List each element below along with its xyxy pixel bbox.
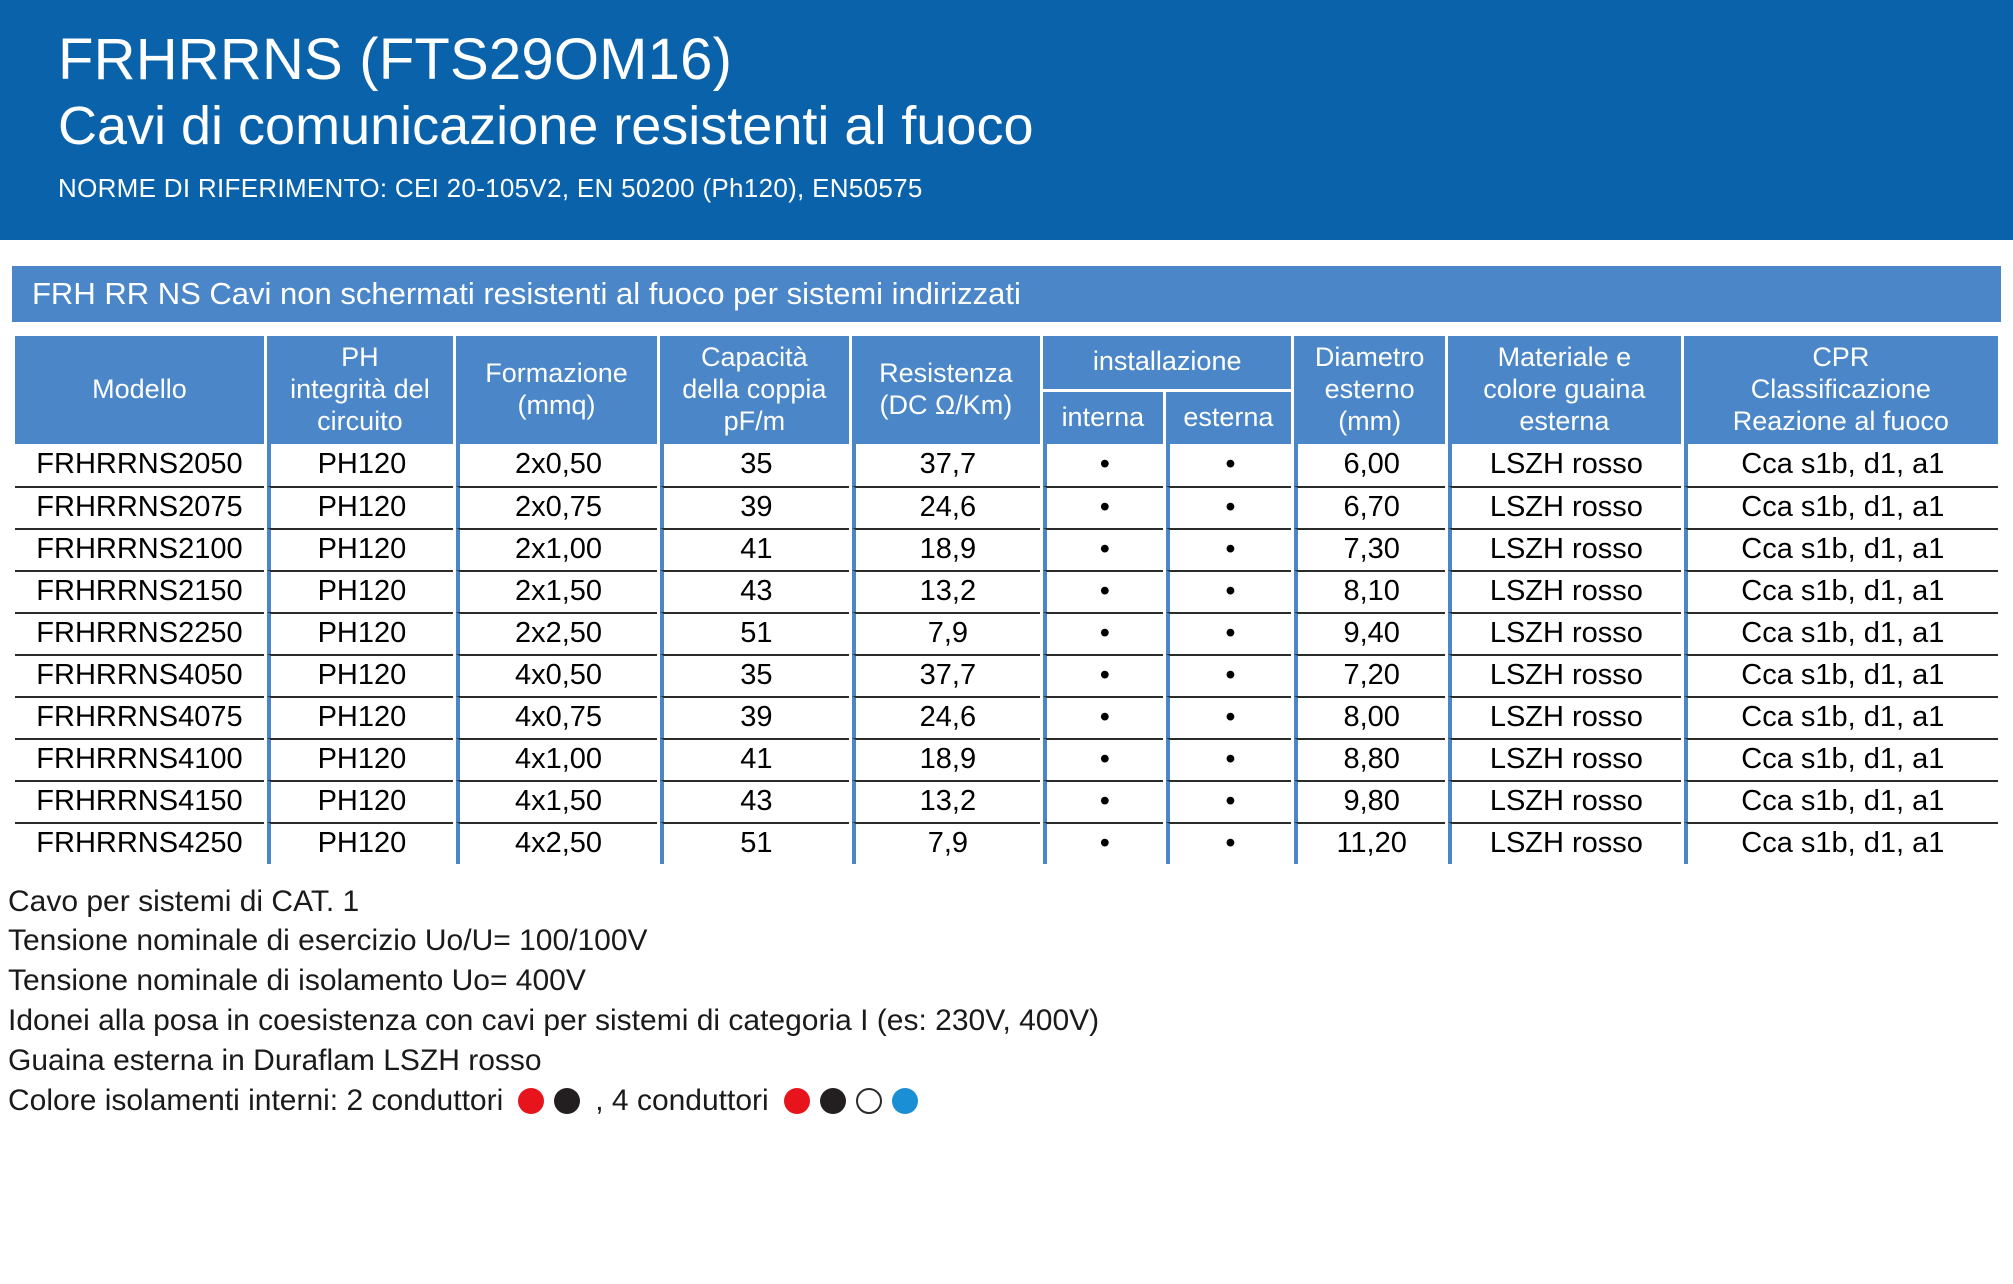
cell-modello: FRHRRNS4100	[15, 738, 264, 780]
spec-table-head: Modello PH integrità del circuito Formaz…	[15, 336, 1998, 444]
cell-resistenza: 37,7	[852, 654, 1041, 696]
note-line-5: Guaina esterna in Duraflam LSZH rosso	[8, 1041, 2013, 1081]
cell-installazione-interna: •	[1043, 486, 1162, 528]
cell-materiale: LSZH rosso	[1448, 570, 1681, 612]
cell-resistenza: 37,7	[852, 444, 1041, 486]
cell-materiale: LSZH rosso	[1448, 528, 1681, 570]
cpr-line-3: Reazione al fuoco	[1688, 406, 1994, 438]
cell-diametro: 8,10	[1294, 570, 1445, 612]
diametro-line-1: Diametro	[1298, 342, 1441, 374]
cell-ph: PH120	[267, 822, 453, 864]
cell-diametro: 6,00	[1294, 444, 1445, 486]
table-row: FRHRRNS4100PH1204x1,004118,9••8,80LSZH r…	[15, 738, 1998, 780]
cell-installazione-esterna: •	[1166, 822, 1292, 864]
cell-cpr: Cca s1b, d1, a1	[1684, 612, 1998, 654]
note-line-3: Tensione nominale di isolamento Uo= 400V	[8, 961, 2013, 1001]
table-row: FRHRRNS4150PH1204x1,504313,2••9,80LSZH r…	[15, 780, 1998, 822]
cell-cpr: Cca s1b, d1, a1	[1684, 528, 1998, 570]
note-line-6: Colore isolamenti interni: 2 conduttori …	[8, 1081, 2013, 1121]
cpr-line-1: CPR	[1688, 342, 1994, 374]
cell-formazione: 2x1,50	[456, 570, 657, 612]
cell-installazione-interna: •	[1043, 612, 1162, 654]
cell-ph: PH120	[267, 444, 453, 486]
cell-capacita: 39	[660, 696, 849, 738]
cell-resistenza: 18,9	[852, 738, 1041, 780]
cell-diametro: 7,30	[1294, 528, 1445, 570]
table-row: FRHRRNS2250PH1202x2,50517,9••9,40LSZH ro…	[15, 612, 1998, 654]
materiale-line-3: esterna	[1452, 406, 1677, 438]
section-band-wrapper: FRH RR NS Cavi non schermati resistenti …	[0, 240, 2013, 322]
cell-installazione-esterna: •	[1166, 486, 1292, 528]
cell-modello: FRHRRNS2050	[15, 444, 264, 486]
cell-capacita: 39	[660, 486, 849, 528]
table-row: FRHRRNS4075PH1204x0,753924,6••8,00LSZH r…	[15, 696, 1998, 738]
cell-materiale: LSZH rosso	[1448, 696, 1681, 738]
cell-capacita: 43	[660, 570, 849, 612]
cell-materiale: LSZH rosso	[1448, 486, 1681, 528]
note-line-1: Cavo per sistemi di CAT. 1	[8, 882, 2013, 922]
col-header-formazione: Formazione (mmq)	[456, 336, 657, 444]
cell-resistenza: 13,2	[852, 780, 1041, 822]
table-row: FRHRRNS4050PH1204x0,503537,7••7,20LSZH r…	[15, 654, 1998, 696]
color-dot-red-4c	[784, 1088, 810, 1114]
cell-cpr: Cca s1b, d1, a1	[1684, 780, 1998, 822]
cell-formazione: 2x2,50	[456, 612, 657, 654]
cell-diametro: 11,20	[1294, 822, 1445, 864]
resistenza-line-2: (DC Ω/Km)	[856, 390, 1037, 422]
conductor-colors-prefix: Colore isolamenti interni: 2 conduttori	[8, 1081, 503, 1121]
cell-materiale: LSZH rosso	[1448, 822, 1681, 864]
cell-cpr: Cca s1b, d1, a1	[1684, 738, 1998, 780]
cell-ph: PH120	[267, 570, 453, 612]
cell-installazione-esterna: •	[1166, 738, 1292, 780]
cell-installazione-interna: •	[1043, 444, 1162, 486]
cell-diametro: 9,80	[1294, 780, 1445, 822]
cell-cpr: Cca s1b, d1, a1	[1684, 654, 1998, 696]
note-line-4: Idonei alla posa in coesistenza con cavi…	[8, 1001, 2013, 1041]
cell-installazione-interna: •	[1043, 822, 1162, 864]
cell-modello: FRHRRNS4150	[15, 780, 264, 822]
cell-resistenza: 24,6	[852, 696, 1041, 738]
spec-table: Modello PH integrità del circuito Formaz…	[12, 336, 2001, 864]
col-header-materiale: Materiale e colore guaina esterna	[1448, 336, 1681, 444]
cell-capacita: 51	[660, 822, 849, 864]
page-subtitle: Cavi di comunicazione resistenti al fuoc…	[58, 95, 2013, 157]
cell-ph: PH120	[267, 780, 453, 822]
resistenza-line-1: Resistenza	[856, 358, 1037, 390]
cell-installazione-interna: •	[1043, 696, 1162, 738]
cell-modello: FRHRRNS4050	[15, 654, 264, 696]
col-header-esterna: esterna	[1166, 392, 1292, 444]
cell-diametro: 8,00	[1294, 696, 1445, 738]
col-header-ph: PH integrità del circuito	[267, 336, 453, 444]
cell-formazione: 4x0,50	[456, 654, 657, 696]
datasheet-page: FRHRRNS (FTS29OM16) Cavi di comunicazion…	[0, 0, 2013, 1284]
col-header-interna: interna	[1043, 392, 1162, 444]
cell-installazione-esterna: •	[1166, 654, 1292, 696]
spec-table-wrapper: Modello PH integrità del circuito Formaz…	[0, 322, 2013, 864]
cell-cpr: Cca s1b, d1, a1	[1684, 486, 1998, 528]
color-dot-blue-4c	[892, 1088, 918, 1114]
cell-modello: FRHRRNS2075	[15, 486, 264, 528]
diametro-line-3: (mm)	[1298, 406, 1441, 438]
cell-modello: FRHRRNS4250	[15, 822, 264, 864]
cell-formazione: 4x1,00	[456, 738, 657, 780]
cell-installazione-esterna: •	[1166, 780, 1292, 822]
footer-notes: Cavo per sistemi di CAT. 1 Tensione nomi…	[0, 864, 2013, 1121]
capacita-line-1: Capacità	[664, 342, 845, 374]
cell-capacita: 43	[660, 780, 849, 822]
cell-materiale: LSZH rosso	[1448, 444, 1681, 486]
section-band-label: FRH RR NS Cavi non schermati resistenti …	[12, 266, 2001, 322]
ph-line-3: circuito	[271, 406, 449, 438]
cell-diametro: 7,20	[1294, 654, 1445, 696]
cell-ph: PH120	[267, 486, 453, 528]
conductor-colors-middle: , 4 conduttori	[595, 1081, 768, 1121]
cell-capacita: 35	[660, 444, 849, 486]
header-row-top: Modello PH integrità del circuito Formaz…	[15, 336, 1998, 392]
cell-materiale: LSZH rosso	[1448, 612, 1681, 654]
page-title: FRHRRNS (FTS29OM16)	[58, 28, 2013, 93]
col-header-resistenza: Resistenza (DC Ω/Km)	[852, 336, 1041, 444]
table-row: FRHRRNS2150PH1202x1,504313,2••8,10LSZH r…	[15, 570, 1998, 612]
cell-cpr: Cca s1b, d1, a1	[1684, 822, 1998, 864]
cell-resistenza: 7,9	[852, 822, 1041, 864]
cell-ph: PH120	[267, 696, 453, 738]
color-dot-white-4c	[856, 1088, 882, 1114]
table-row: FRHRRNS2050PH1202x0,503537,7••6,00LSZH r…	[15, 444, 1998, 486]
note-line-2: Tensione nominale di esercizio Uo/U= 100…	[8, 921, 2013, 961]
cell-resistenza: 24,6	[852, 486, 1041, 528]
cell-installazione-interna: •	[1043, 528, 1162, 570]
cell-installazione-interna: •	[1043, 780, 1162, 822]
cell-installazione-interna: •	[1043, 654, 1162, 696]
page-header: FRHRRNS (FTS29OM16) Cavi di comunicazion…	[0, 0, 2013, 240]
color-dot-black-2c	[554, 1088, 580, 1114]
cell-capacita: 41	[660, 528, 849, 570]
cell-materiale: LSZH rosso	[1448, 654, 1681, 696]
reference-standards: NORME DI RIFERIMENTO: CEI 20-105V2, EN 5…	[58, 173, 2013, 204]
cell-modello: FRHRRNS2100	[15, 528, 264, 570]
cell-formazione: 4x1,50	[456, 780, 657, 822]
cell-modello: FRHRRNS2150	[15, 570, 264, 612]
cell-materiale: LSZH rosso	[1448, 738, 1681, 780]
cell-ph: PH120	[267, 738, 453, 780]
cell-cpr: Cca s1b, d1, a1	[1684, 696, 1998, 738]
diametro-line-2: esterno	[1298, 374, 1441, 406]
table-row: FRHRRNS4250PH1204x2,50517,9••11,20LSZH r…	[15, 822, 1998, 864]
cpr-line-2: Classificazione	[1688, 374, 1994, 406]
cell-capacita: 51	[660, 612, 849, 654]
cell-formazione: 2x1,00	[456, 528, 657, 570]
cell-formazione: 2x0,75	[456, 486, 657, 528]
cell-cpr: Cca s1b, d1, a1	[1684, 444, 1998, 486]
capacita-line-3: pF/m	[664, 406, 845, 438]
materiale-line-1: Materiale e	[1452, 342, 1677, 374]
cell-installazione-interna: •	[1043, 738, 1162, 780]
cell-modello: FRHRRNS2250	[15, 612, 264, 654]
cell-installazione-interna: •	[1043, 570, 1162, 612]
cell-resistenza: 18,9	[852, 528, 1041, 570]
table-row: FRHRRNS2100PH1202x1,004118,9••7,30LSZH r…	[15, 528, 1998, 570]
cell-installazione-esterna: •	[1166, 570, 1292, 612]
cell-diametro: 6,70	[1294, 486, 1445, 528]
formazione-line-2: (mmq)	[460, 390, 653, 422]
cell-installazione-esterna: •	[1166, 444, 1292, 486]
col-header-modello: Modello	[15, 336, 264, 444]
cell-resistenza: 7,9	[852, 612, 1041, 654]
cell-capacita: 41	[660, 738, 849, 780]
formazione-line-1: Formazione	[460, 358, 653, 390]
cell-formazione: 2x0,50	[456, 444, 657, 486]
cell-formazione: 4x2,50	[456, 822, 657, 864]
col-header-cpr: CPR Classificazione Reazione al fuoco	[1684, 336, 1998, 444]
table-row: FRHRRNS2075PH1202x0,753924,6••6,70LSZH r…	[15, 486, 1998, 528]
col-header-installazione: installazione	[1043, 336, 1291, 392]
cell-capacita: 35	[660, 654, 849, 696]
spec-table-body: FRHRRNS2050PH1202x0,503537,7••6,00LSZH r…	[15, 444, 1998, 864]
ph-line-1: PH	[271, 342, 449, 374]
capacita-line-2: della coppia	[664, 374, 845, 406]
cell-ph: PH120	[267, 528, 453, 570]
cell-diametro: 9,40	[1294, 612, 1445, 654]
cell-materiale: LSZH rosso	[1448, 780, 1681, 822]
col-header-capacita: Capacità della coppia pF/m	[660, 336, 849, 444]
cell-resistenza: 13,2	[852, 570, 1041, 612]
ph-line-2: integrità del	[271, 374, 449, 406]
color-dot-red-2c	[518, 1088, 544, 1114]
cell-diametro: 8,80	[1294, 738, 1445, 780]
color-dot-black-4c	[820, 1088, 846, 1114]
cell-ph: PH120	[267, 654, 453, 696]
cell-cpr: Cca s1b, d1, a1	[1684, 570, 1998, 612]
cell-ph: PH120	[267, 612, 453, 654]
materiale-line-2: colore guaina	[1452, 374, 1677, 406]
cell-installazione-esterna: •	[1166, 612, 1292, 654]
cell-installazione-esterna: •	[1166, 696, 1292, 738]
cell-installazione-esterna: •	[1166, 528, 1292, 570]
cell-formazione: 4x0,75	[456, 696, 657, 738]
cell-modello: FRHRRNS4075	[15, 696, 264, 738]
col-header-diametro: Diametro esterno (mm)	[1294, 336, 1445, 444]
